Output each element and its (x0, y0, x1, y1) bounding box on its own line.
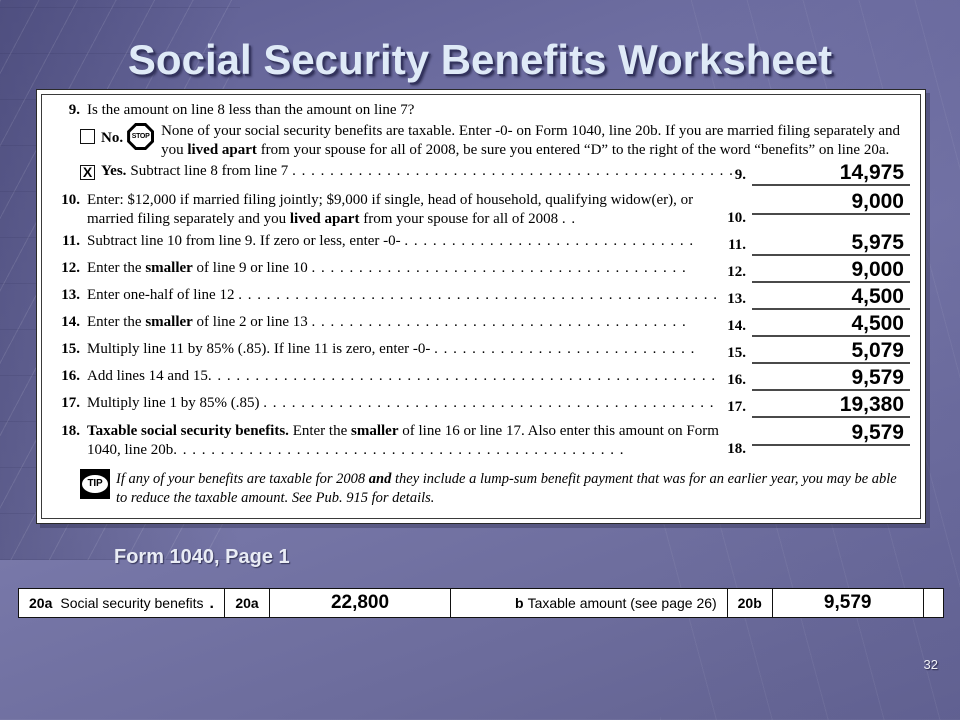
line-9-number: 9. (50, 101, 87, 120)
form-1040-cents-20a[interactable] (450, 589, 503, 617)
worksheet-line-16: 16. Add lines 14 and 15. . . . . . . . .… (50, 367, 910, 391)
line-15-amount-cell[interactable]: 5,079 (752, 340, 910, 364)
worksheet-line-15: 15. Multiply line 11 by 85% (.85). If li… (50, 340, 910, 364)
worksheet-line-9-no-row: No. None of your social security benefit… (80, 121, 910, 160)
no-text-part-2: from your spouse for all of 2008, be sur… (257, 142, 889, 158)
line-10-number: 10. (50, 191, 87, 210)
worksheet-line-11: 11. Subtract line 10 from line 9. If zer… (50, 232, 910, 256)
social-security-benefits-worksheet: 9. Is the amount on line 8 less than the… (36, 89, 926, 524)
line-18-amount: 9,579 (752, 422, 910, 446)
line-12-number: 12. (50, 259, 87, 278)
line-14-text-part-2: of line 2 or line 13 (193, 314, 308, 330)
line-16-number: 16. (50, 367, 87, 386)
line-18-dots: . . . . . . . . . . . . . . . . . . . . … (173, 442, 624, 458)
form-1040-value-20a[interactable]: 22,800 (270, 589, 450, 617)
line-10-text: Enter: $12,000 if married filing jointly… (87, 191, 727, 229)
tip-text-bold: and (369, 471, 392, 487)
line-12-text-part-2: of line 9 or line 10 (193, 260, 308, 276)
line-9-yes-text: Subtract line 8 from line 7 . . . . . . … (126, 162, 734, 181)
yes-checkbox[interactable]: X (80, 165, 95, 180)
line-17-amount: 19,380 (752, 394, 910, 418)
line-17-dots: . . . . . . . . . . . . . . . . . . . . … (263, 395, 714, 411)
line-12-dots: . . . . . . . . . . . . . . . . . . . . … (312, 260, 687, 276)
tip-text: If any of your benefits are taxable for … (116, 469, 910, 508)
line-13-instruction: Enter one-half of line 12 (87, 287, 234, 303)
worksheet-inner-frame: 9. Is the amount on line 8 less than the… (41, 94, 921, 519)
page-title: Social Security Benefits Worksheet (0, 36, 960, 84)
line-16-dots: . . . . . . . . . . . . . . . . . . . . … (208, 368, 716, 384)
worksheet-line-9-yes-row: XYes. Subtract line 8 from line 7 . . . … (80, 162, 910, 186)
line-11-number: 11. (50, 232, 87, 251)
line-13-dots: . . . . . . . . . . . . . . . . . . . . … (238, 287, 718, 303)
line-16-ref: 16. (727, 370, 752, 391)
line-17-number: 17. (50, 394, 87, 413)
line-14-ref: 14. (727, 316, 752, 337)
line-11-text: Subtract line 10 from line 9. If zero or… (87, 232, 728, 251)
line-17-ref: 17. (727, 397, 752, 418)
line-16-amount: 9,579 (752, 367, 910, 391)
line-9-no-text: None of your social security benefits ar… (161, 121, 910, 160)
form-1040-box-20b: 20b (727, 589, 773, 617)
line-11-amount: 5,975 (752, 232, 910, 256)
line-9-instruction: Subtract line 8 from line 7 (130, 163, 288, 179)
line-18-number: 18. (50, 422, 87, 441)
line-15-text: Multiply line 11 by 85% (.85). If line 1… (87, 340, 727, 359)
line-13-text: Enter one-half of line 12 . . . . . . . … (87, 286, 727, 305)
form-1040-value-20b[interactable]: 9,579 (773, 589, 923, 617)
line-18-text: Taxable social security benefits. Enter … (87, 422, 727, 460)
line-12-amount: 9,000 (752, 259, 910, 283)
line-16-text: Add lines 14 and 15. . . . . . . . . . .… (87, 367, 727, 386)
form-1040-b-label: b (515, 595, 524, 611)
form-1040-line-20a-description: Social security benefits (60, 589, 207, 617)
form-1040-leader-dot: . (208, 589, 224, 617)
line-9-yes-option[interactable]: XYes. (80, 162, 126, 180)
worksheet-line-10: 10. Enter: $12,000 if married filing joi… (50, 191, 910, 229)
line-10-amount: 9,000 (752, 191, 910, 215)
worksheet-line-18: 18. Taxable social security benefits. En… (50, 422, 910, 460)
line-15-amount: 5,079 (752, 340, 910, 364)
line-14-dots: . . . . . . . . . . . . . . . . . . . . … (312, 314, 687, 330)
form-1040-line-20b-description: bTaxable amount (see page 26) (503, 589, 727, 617)
line-14-amount-cell[interactable]: 4,500 (752, 313, 910, 337)
tip-icon (80, 469, 110, 499)
worksheet-line-9-question-row: 9. Is the amount on line 8 less than the… (50, 101, 910, 120)
worksheet-line-17: 17. Multiply line 1 by 85% (.85) . . . .… (50, 394, 910, 418)
line-14-text-part-1: Enter the (87, 314, 145, 330)
line-18-title: Taxable social security benefits. (87, 423, 289, 439)
line-12-text-part-1: Enter the (87, 260, 145, 276)
worksheet-tip-note: If any of your benefits are taxable for … (80, 469, 910, 508)
line-14-amount: 4,500 (752, 313, 910, 337)
line-9-amount-cell[interactable]: 14,975 (752, 162, 910, 186)
line-10-ref: 10. (727, 208, 752, 229)
line-12-ref: 12. (727, 262, 752, 283)
line-17-amount-cell[interactable]: 19,380 (752, 394, 910, 418)
form-1040-b-desc-text: Taxable amount (see page 26) (528, 595, 717, 611)
line-13-ref: 13. (727, 289, 752, 310)
line-15-dots: . . . . . . . . . . . . . . . . . . . . … (434, 341, 695, 357)
line-11-amount-cell[interactable]: 5,975 (752, 232, 910, 256)
line-11-instruction: Subtract line 10 from line 9. If zero or… (87, 233, 401, 249)
line-12-amount-cell[interactable]: 9,000 (752, 259, 910, 283)
tip-text-part-1: If any of your benefits are taxable for … (116, 471, 369, 487)
line-17-instruction: Multiply line 1 by 85% (.85) (87, 395, 260, 411)
line-10-text-bold: lived apart (290, 211, 360, 227)
line-16-instruction: Add lines 14 and 15 (87, 368, 208, 384)
line-16-amount-cell[interactable]: 9,579 (752, 367, 910, 391)
form-1040-cents-20b[interactable] (923, 589, 960, 617)
line-17-text: Multiply line 1 by 85% (.85) . . . . . .… (87, 394, 727, 413)
worksheet-line-12: 12. Enter the smaller of line 9 or line … (50, 259, 910, 283)
line-13-number: 13. (50, 286, 87, 305)
worksheet-line-13: 13. Enter one-half of line 12 . . . . . … (50, 286, 910, 310)
line-18-ref: 18. (727, 439, 752, 460)
line-9-no-option[interactable]: No. (80, 121, 161, 150)
line-11-dots: . . . . . . . . . . . . . . . . . . . . … (404, 233, 694, 249)
form-1040-caption: Form 1040, Page 1 (114, 546, 290, 569)
line-14-text: Enter the smaller of line 2 or line 13 .… (87, 313, 727, 332)
line-12-text: Enter the smaller of line 9 or line 10 .… (87, 259, 727, 278)
no-label: No. (101, 130, 123, 146)
line-9-question-text: Is the amount on line 8 less than the am… (87, 101, 910, 120)
yes-label: Yes. (101, 163, 126, 179)
line-18-text-bold: smaller (351, 423, 398, 439)
form-1040-line-20a-label: 20a (19, 589, 60, 617)
line-12-text-bold: smaller (145, 260, 192, 276)
line-10-dots: . . (562, 211, 576, 227)
line-9-amount: 14,975 (752, 162, 910, 186)
form-1040-box-20a: 20a (224, 589, 270, 617)
line-14-text-bold: smaller (145, 314, 192, 330)
line-18-amount-cell[interactable]: 9,579 (752, 422, 910, 446)
line-11-ref: 11. (728, 235, 752, 256)
line-10-text-part-2: from your spouse for all of 2008 (359, 211, 558, 227)
worksheet-line-14: 14. Enter the smaller of line 2 or line … (50, 313, 910, 337)
slide-page-number: 32 (924, 657, 938, 672)
stop-sign-icon (127, 123, 154, 150)
line-15-ref: 15. (727, 343, 752, 364)
line-15-instruction: Multiply line 11 by 85% (.85). If line 1… (87, 341, 430, 357)
line-18-text-part-1: Enter the (289, 423, 351, 439)
no-text-bold: lived apart (187, 142, 257, 158)
line-9-ref: 9. (735, 165, 752, 186)
no-checkbox[interactable] (80, 129, 95, 144)
line-10-amount-cell[interactable]: 9,000 (752, 191, 910, 215)
line-13-amount-cell[interactable]: 4,500 (752, 286, 910, 310)
line-15-number: 15. (50, 340, 87, 359)
line-9-dots: . . . . . . . . . . . . . . . . . . . . … (292, 163, 735, 179)
form-1040-line-20-strip: 20a Social security benefits . 20a 22,80… (18, 588, 944, 618)
line-13-amount: 4,500 (752, 286, 910, 310)
line-14-number: 14. (50, 313, 87, 332)
